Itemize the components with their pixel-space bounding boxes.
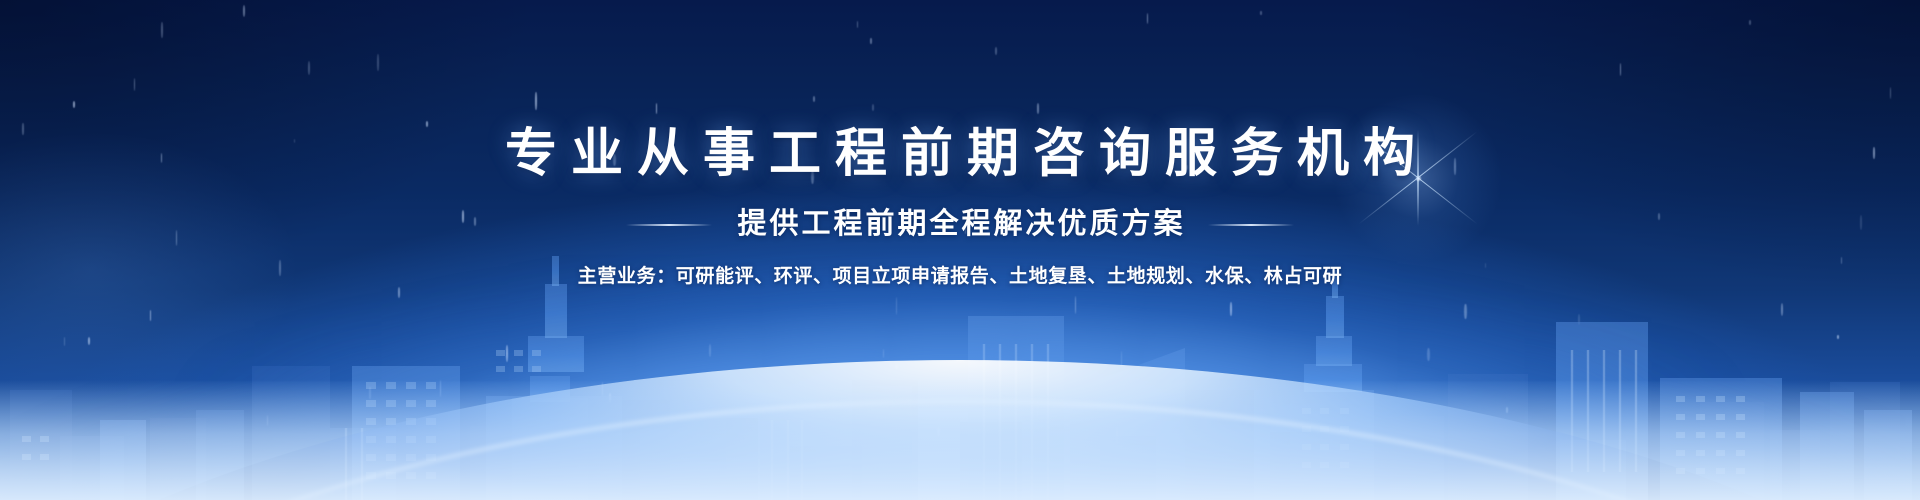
hero-banner: 专业从事工程前期咨询服务机构 提供工程前期全程解决优质方案 主营业务：可研能评、… <box>0 0 1920 500</box>
earth-horizon-rim <box>0 400 1920 500</box>
banner-copy-block: 专业从事工程前期咨询服务机构 提供工程前期全程解决优质方案 主营业务：可研能评、… <box>0 0 1920 286</box>
banner-subheadline-row: 提供工程前期全程解决优质方案 <box>0 210 1920 239</box>
banner-subheadline: 提供工程前期全程解决优质方案 <box>734 210 1185 239</box>
banner-tagline: 主营业务：可研能评、环评、项目立项申请报告、土地复垦、土地规划、水保、林占可研 <box>0 267 1920 286</box>
bottom-light-fade <box>0 380 1920 500</box>
earth-horizon-glow <box>0 360 1920 500</box>
dash-right-decor <box>1208 224 1294 226</box>
banner-headline: 专业从事工程前期咨询服务机构 <box>0 128 1920 180</box>
dash-left-decor <box>626 224 712 226</box>
